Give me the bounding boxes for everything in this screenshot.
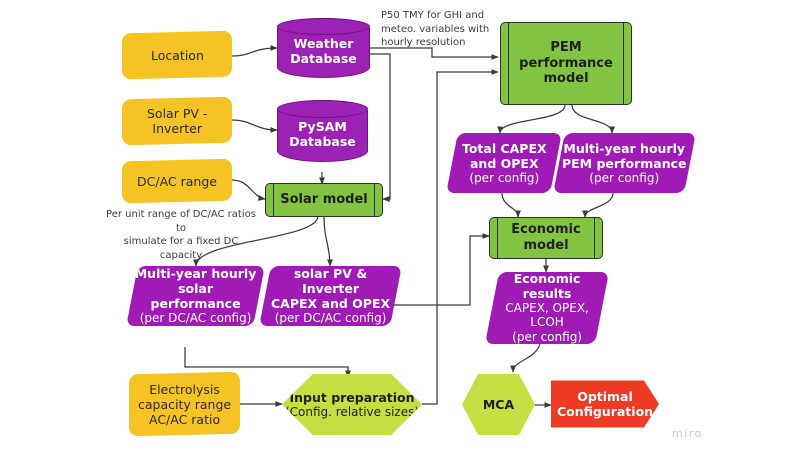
node-dc-ac-range-label: DC/AC range [137,174,217,189]
node-input-preparation-line1: Input preparation [289,390,414,405]
node-optimal-configuration[interactable]: Optimal Configuration [551,373,659,435]
node-input-preparation[interactable]: Input preparation (Config. relative size… [282,374,422,435]
node-solar-performance-data-line2: solar performance [132,281,259,311]
node-solar-performance-data-line3: (per DC/AC config) [132,311,259,325]
node-pysam-database[interactable]: PySAM Database [277,100,368,162]
node-optimal-configuration-line1: Optimal [577,389,633,404]
node-solar-pv-inverter-line2: Inverter [147,121,207,136]
node-solar-capex-opex[interactable]: solar PV & Inverter CAPEX and OPEX (per … [259,266,402,326]
node-total-capex-opex-line2: and OPEX [462,156,547,171]
node-solar-pv-inverter-line1: Solar PV - [147,106,207,121]
node-pem-performance-model-line1: PEM [550,40,581,56]
edge-total-capex-to-economic-model [502,193,518,217]
node-economic-model-line1: Economic [511,222,580,238]
edge-solar-capex-to-economic-model [392,236,489,305]
node-mca-label: MCA [483,397,514,412]
edge-pem-model-to-pem-performance [572,105,612,133]
flowchart-canvas: Location Solar PV - Inverter DC/AC range… [0,0,800,450]
node-location[interactable]: Location [122,31,232,80]
node-economic-model-line2: model [523,238,568,254]
node-pem-performance-model[interactable]: PEM performance model [500,22,632,105]
edge-dcac-to-solar-model [232,180,265,199]
node-pem-performance-model-line3: model [543,71,588,87]
node-economic-results-line4: (per config) [492,330,602,344]
edge-location-to-weather-database [232,48,277,56]
node-solar-performance-data[interactable]: Multi-year hourly solar performance (per… [126,266,265,326]
node-total-capex-opex[interactable]: Total CAPEX and OPEX (per config) [446,133,562,193]
node-solar-capex-opex-line1: solar PV & Inverter [265,266,396,296]
node-economic-model[interactable]: Economic model [489,217,603,259]
node-solar-pv-inverter[interactable]: Solar PV - Inverter [122,97,232,146]
node-solar-model-label: Solar model [280,192,368,208]
edge-weather-to-solar-model [370,54,390,199]
node-location-label: Location [151,48,204,63]
node-total-capex-opex-line1: Total CAPEX [462,141,547,156]
edge-economic-results-to-mca [513,344,540,372]
edge-inputprep-to-pem-model [422,72,498,404]
node-electrolysis-range-line1: Electrolysis [138,382,231,397]
node-pem-performance-model-line2: performance [519,56,613,72]
node-total-capex-opex-line3: (per config) [462,171,547,185]
node-economic-results-line3: LCOH [492,316,602,330]
node-solar-capex-opex-line2: CAPEX and OPEX [265,296,396,311]
edge-solar-model-to-solar-capex [324,216,330,266]
node-solar-performance-data-line1: Multi-year hourly [132,266,259,281]
node-pem-performance-data[interactable]: Multi-year hourly PEM performance (per c… [553,133,696,193]
node-solar-capex-opex-line3: (per DC/AC config) [265,311,396,325]
node-pem-performance-data-line2: PEM performance [562,156,687,171]
edge-pem-model-to-total-capex [500,105,565,133]
node-economic-results-line1: Economic results [492,271,602,301]
node-solar-model[interactable]: Solar model [265,183,383,217]
node-electrolysis-range-line3: AC/AC ratio [138,412,231,427]
annotation-dcac-note: Per unit range of DC/AC ratios to simula… [106,208,256,262]
node-economic-results[interactable]: Economic results CAPEX, OPEX, LCOH (per … [485,272,609,344]
node-electrolysis-range[interactable]: Electrolysis capacity range AC/AC ratio [129,372,240,437]
edge-solarpv-to-pysam [232,120,277,130]
node-weather-database-line1: Weather [278,36,369,51]
node-economic-results-line2: CAPEX, OPEX, [492,301,602,315]
node-pem-performance-data-line1: Multi-year hourly [562,141,687,156]
node-weather-database-line2: Database [278,51,369,66]
node-pysam-database-line2: Database [278,134,367,149]
node-weather-database[interactable]: Weather Database [277,18,370,78]
node-pysam-database-line1: PySAM [278,119,367,134]
miro-watermark: miro [672,427,703,440]
annotation-weather-note: P50 TMY for GHI and meteo. variables wit… [381,9,501,50]
node-dc-ac-range[interactable]: DC/AC range [122,159,232,204]
node-optimal-configuration-line2: Configuration [557,404,653,419]
node-pem-performance-data-line3: (per config) [562,171,687,185]
node-input-preparation-line2: (Config. relative sizes) [285,405,419,419]
node-electrolysis-range-line2: capacity range [138,397,231,412]
node-mca[interactable]: MCA [462,374,535,435]
edge-pem-performance-to-economic-model [585,193,613,217]
